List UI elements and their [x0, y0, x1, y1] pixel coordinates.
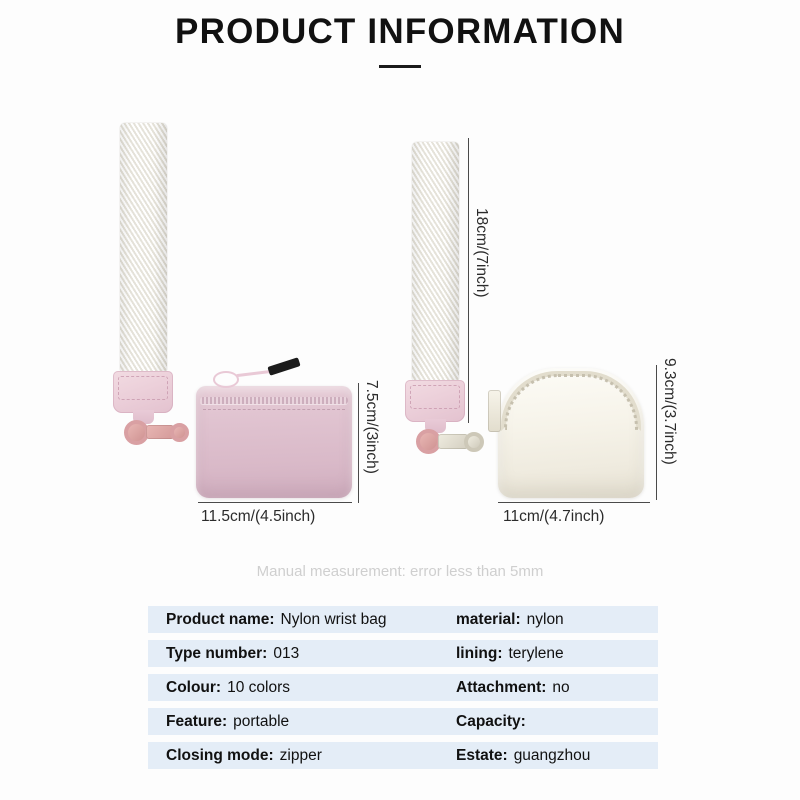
- white-bag-height-measure-line: [656, 365, 657, 500]
- pink-bag-height-measure-line: [358, 383, 359, 503]
- page-header: PRODUCT INFORMATION: [0, 0, 800, 68]
- spec-cell-feature: Feature: portable: [148, 713, 448, 731]
- white-bag-height-label: 9.3cm/(3.7inch): [660, 358, 678, 465]
- white-bag-width-measure-line: [498, 502, 650, 503]
- title-underline-rule: [379, 65, 421, 68]
- manual-measurement-disclaimer: Manual measurement: error less than 5mm: [0, 563, 800, 580]
- pink-bag-photo: 7.5cm/(3inch) 11.5cm/(4.5inch): [0, 90, 380, 520]
- spec-cell-closing-mode: Closing mode: zipper: [148, 747, 448, 765]
- spec-value: zipper: [280, 747, 322, 765]
- pink-bag-zipper: [200, 397, 348, 404]
- white-bag-strap-measure-line: [468, 138, 469, 423]
- spec-key: Type number:: [166, 645, 267, 663]
- white-bag-clasp-ring: [464, 432, 484, 452]
- pink-bag-wrist-strap: [120, 123, 167, 371]
- table-row: Closing mode: zipper Estate: guangzhou: [148, 742, 658, 769]
- spec-cell-type-number: Type number: 013: [148, 645, 448, 663]
- spec-cell-product-name: Product name: Nylon wrist bag: [148, 611, 448, 629]
- product-spec-table: Product name: Nylon wrist bag material: …: [148, 606, 658, 776]
- pink-bag-top-seam: [203, 409, 345, 410]
- spec-value: no: [552, 679, 569, 697]
- table-row: Colour: 10 colors Attachment: no: [148, 674, 658, 701]
- spec-key: Estate:: [456, 747, 508, 765]
- spec-key: material:: [456, 611, 521, 629]
- white-bag-body: [498, 368, 644, 498]
- spec-key: Product name:: [166, 611, 275, 629]
- spec-cell-material: material: nylon: [448, 611, 658, 629]
- spec-key: lining:: [456, 645, 503, 663]
- white-bag-width-label: 11cm/(4.7inch): [503, 508, 604, 526]
- spec-cell-capacity: Capacity:: [448, 713, 658, 731]
- spec-value: guangzhou: [514, 747, 591, 765]
- spec-value: portable: [233, 713, 289, 731]
- spec-cell-lining: lining: terylene: [448, 645, 658, 663]
- table-row: Feature: portable Capacity:: [148, 708, 658, 735]
- pink-bag-clasp-ring: [170, 423, 189, 442]
- spec-key: Attachment:: [456, 679, 546, 697]
- white-bag-strap-length-label: 18cm/(7inch): [472, 208, 490, 298]
- pink-bag-zipper-cord-loop: [213, 371, 239, 388]
- spec-cell-attachment: Attachment: no: [448, 679, 658, 697]
- white-bag-strap-leather-tab: [405, 380, 465, 422]
- pink-bag-width-label: 11.5cm/(4.5inch): [201, 508, 315, 526]
- white-bag-wrist-strap: [412, 142, 459, 380]
- table-row: Type number: 013 lining: terylene: [148, 640, 658, 667]
- pink-bag-height-label: 7.5cm/(3inch): [362, 380, 380, 474]
- spec-cell-estate: Estate: guangzhou: [448, 747, 658, 765]
- spec-value: 10 colors: [227, 679, 290, 697]
- product-photo-stage: 7.5cm/(3inch) 11.5cm/(4.5inch) 18cm/(7in…: [0, 90, 800, 555]
- product-information-page: PRODUCT INFORMATION: [0, 0, 800, 800]
- pink-bag-width-measure-line: [198, 502, 352, 503]
- spec-value: nylon: [527, 611, 564, 629]
- spec-value: terylene: [509, 645, 564, 663]
- white-bag-photo: 18cm/(7inch) 9.3cm/(3.7inch) 11cm/(4.7in…: [390, 90, 800, 520]
- spec-key: Feature:: [166, 713, 227, 731]
- pink-bag-strap-leather-tab: [113, 371, 173, 413]
- pink-bag-body: [196, 386, 352, 498]
- page-title: PRODUCT INFORMATION: [0, 0, 800, 49]
- white-bag-zipper-pull-tab: [488, 390, 501, 432]
- spec-cell-colour: Colour: 10 colors: [148, 679, 448, 697]
- spec-key: Capacity:: [456, 713, 526, 731]
- pink-bag-zipper-cord: [236, 370, 272, 377]
- spec-key: Closing mode:: [166, 747, 274, 765]
- spec-key: Colour:: [166, 679, 221, 697]
- spec-value: Nylon wrist bag: [281, 611, 387, 629]
- spec-value: 013: [273, 645, 299, 663]
- table-row: Product name: Nylon wrist bag material: …: [148, 606, 658, 633]
- pink-bag-zipper-pull-tab: [267, 357, 300, 375]
